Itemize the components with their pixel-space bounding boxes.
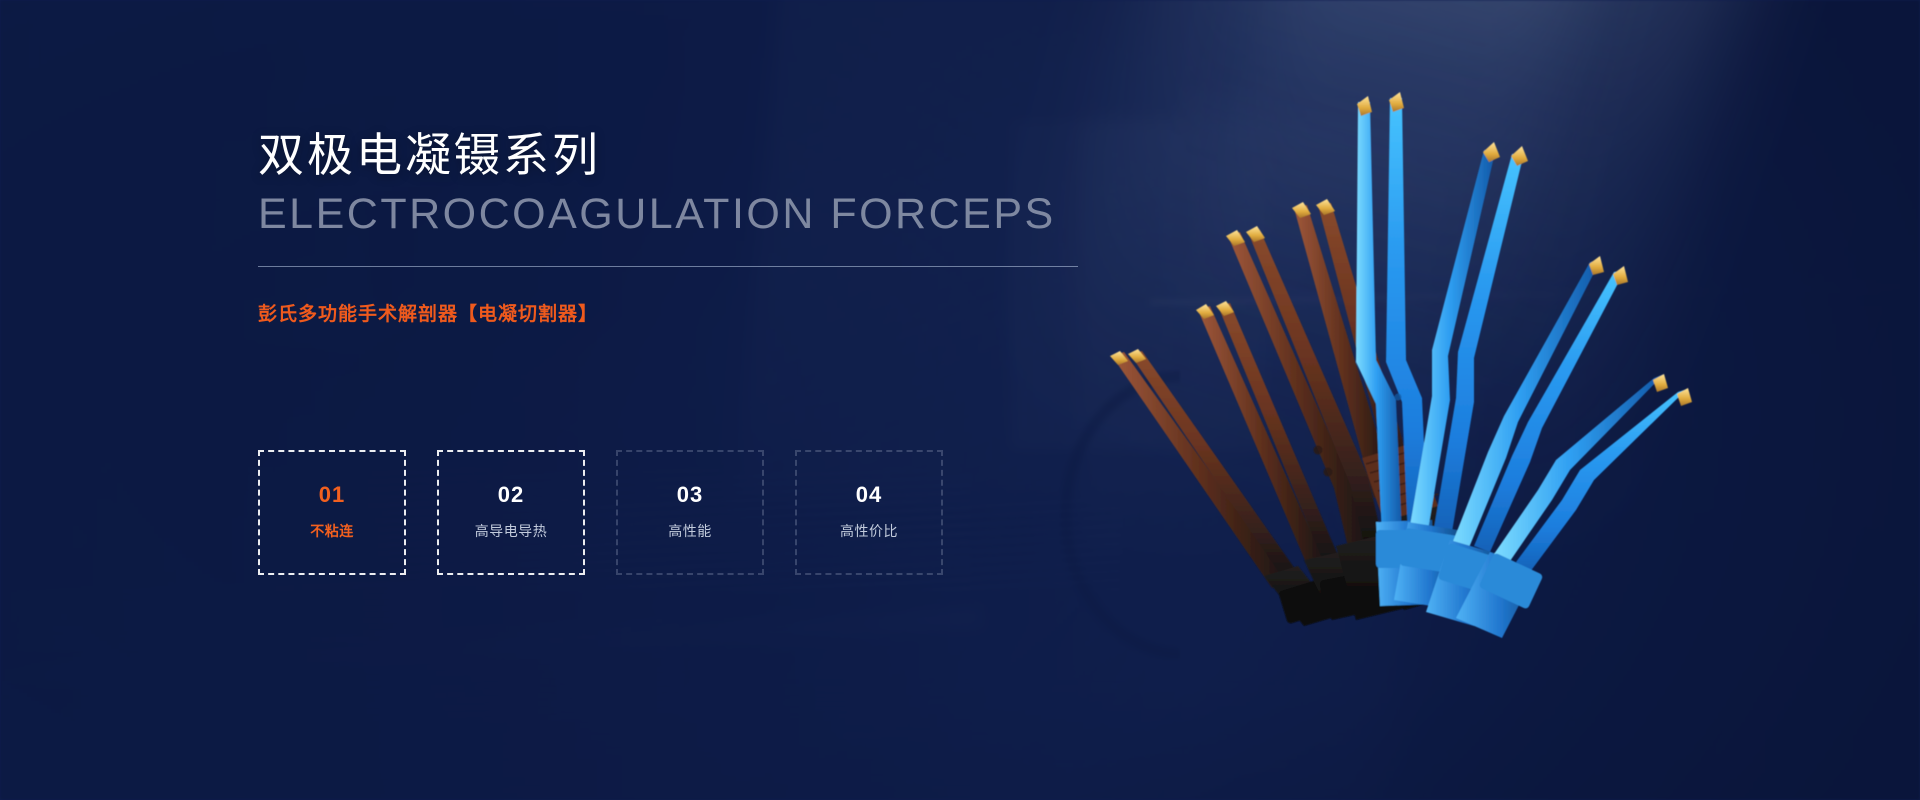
feature-card-list: 01 不粘连 02 高导电导热 03 高性能 04 高性价比 — [258, 450, 943, 575]
feature-number: 01 — [319, 484, 345, 506]
product-hero-banner: 双极电凝镊系列 ELECTROCOAGULATION FORCEPS 彭氏多功能… — [0, 0, 1920, 800]
hero-copy-block: 双极电凝镊系列 ELECTROCOAGULATION FORCEPS 彭氏多功能… — [258, 128, 1098, 326]
feature-number: 04 — [856, 484, 882, 506]
feature-card-02[interactable]: 02 高导电导热 — [437, 450, 585, 575]
feature-card-01[interactable]: 01 不粘连 — [258, 450, 406, 575]
feature-label: 高性价比 — [840, 521, 898, 541]
feature-label: 不粘连 — [310, 521, 354, 541]
page-title: 双极电凝镊系列 — [258, 128, 1098, 182]
feature-number: 03 — [677, 484, 703, 506]
product-tagline: 彭氏多功能手术解剖器【电凝切割器】 — [258, 299, 1098, 326]
feature-label: 高导电导热 — [475, 521, 548, 541]
feature-label: 高性能 — [668, 521, 712, 541]
feature-card-03[interactable]: 03 高性能 — [616, 450, 764, 575]
page-subtitle-en: ELECTROCOAGULATION FORCEPS — [258, 190, 1098, 239]
forceps-product-image — [1050, 60, 1690, 620]
feature-card-04[interactable]: 04 高性价比 — [795, 450, 943, 575]
feature-number: 02 — [498, 484, 524, 506]
divider-line — [258, 266, 1078, 267]
